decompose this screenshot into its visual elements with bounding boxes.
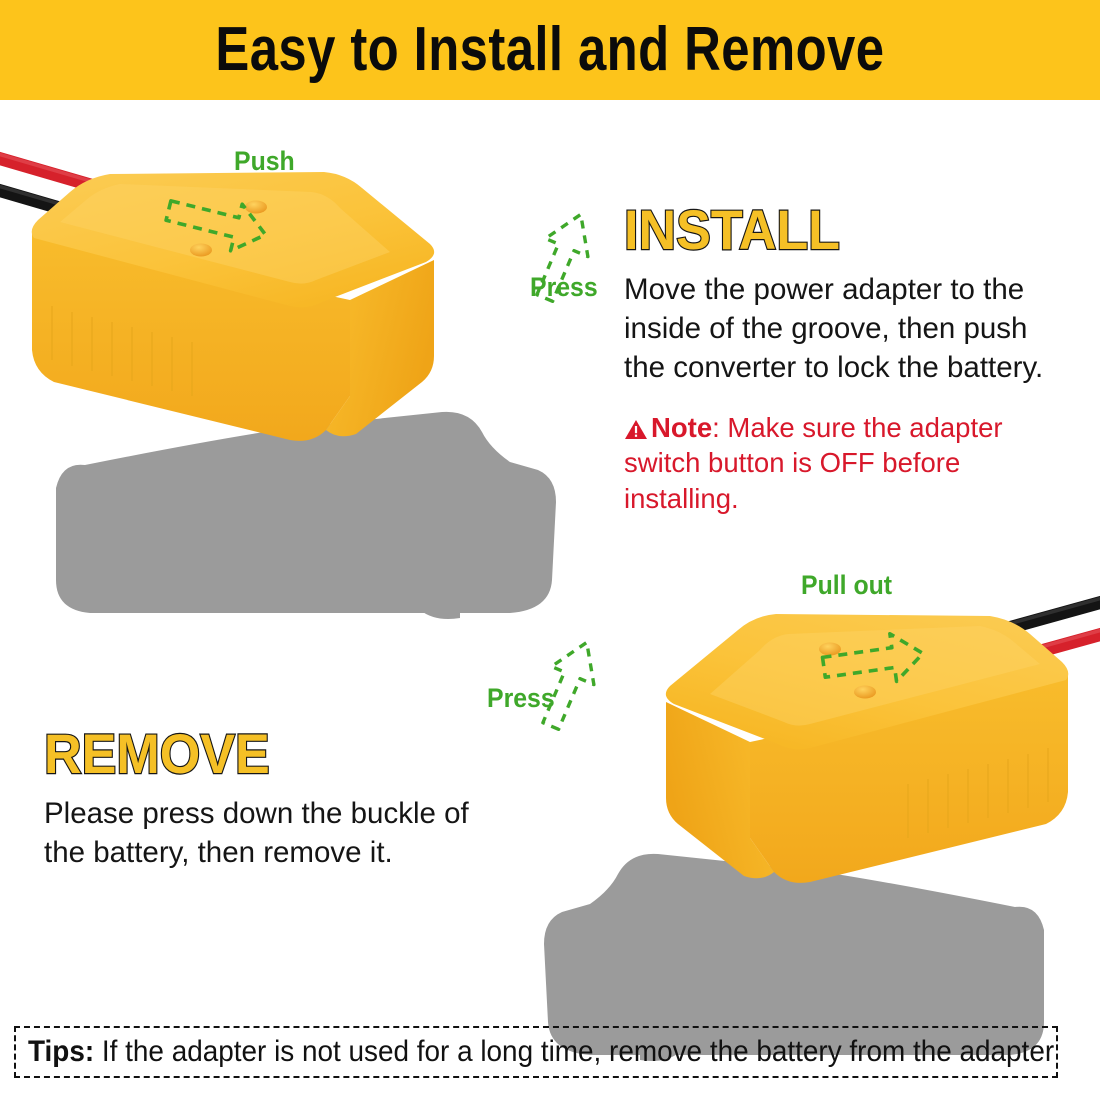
remove-illustration bbox=[470, 552, 1100, 1032]
remove-title: REMOVE bbox=[44, 726, 444, 782]
press-label: Press bbox=[530, 274, 598, 301]
press-label: Press bbox=[487, 685, 555, 712]
note-label: Note bbox=[651, 412, 712, 443]
install-note: Note: Make sure the adapter switch butto… bbox=[624, 410, 1072, 517]
tips-bar: Tips: If the adapter is not used for a l… bbox=[14, 1026, 1058, 1078]
remove-body: Please press down the buckle of the batt… bbox=[44, 794, 474, 872]
adapter-body bbox=[666, 614, 1068, 883]
screw-dot bbox=[854, 686, 876, 699]
install-title: INSTALL bbox=[624, 202, 1041, 258]
remove-section: REMOVE Please press down the buckle of t… bbox=[44, 726, 474, 872]
screw-dot bbox=[819, 643, 841, 656]
install-section: INSTALL Move the power adapter to the in… bbox=[624, 202, 1072, 517]
tips-label: Tips: bbox=[28, 1035, 94, 1068]
page-title: Easy to Install and Remove bbox=[216, 19, 885, 81]
screw-dot bbox=[245, 201, 267, 214]
tips-body: If the adapter is not used for a long ti… bbox=[94, 1035, 1054, 1068]
tips-text: Tips: If the adapter is not used for a l… bbox=[28, 1037, 1054, 1067]
illustration-stage: Push Press INSTALL Move the power adapte… bbox=[0, 100, 1100, 1010]
install-body: Move the power adapter to the inside of … bbox=[624, 270, 1072, 388]
screw-dot bbox=[190, 244, 212, 257]
adapter-body bbox=[32, 172, 434, 441]
install-illustration bbox=[0, 110, 630, 590]
push-label: Push bbox=[234, 148, 295, 175]
pull-out-label: Pull out bbox=[801, 572, 892, 599]
header-banner: Easy to Install and Remove bbox=[0, 0, 1100, 100]
warning-triangle-icon bbox=[624, 413, 648, 434]
